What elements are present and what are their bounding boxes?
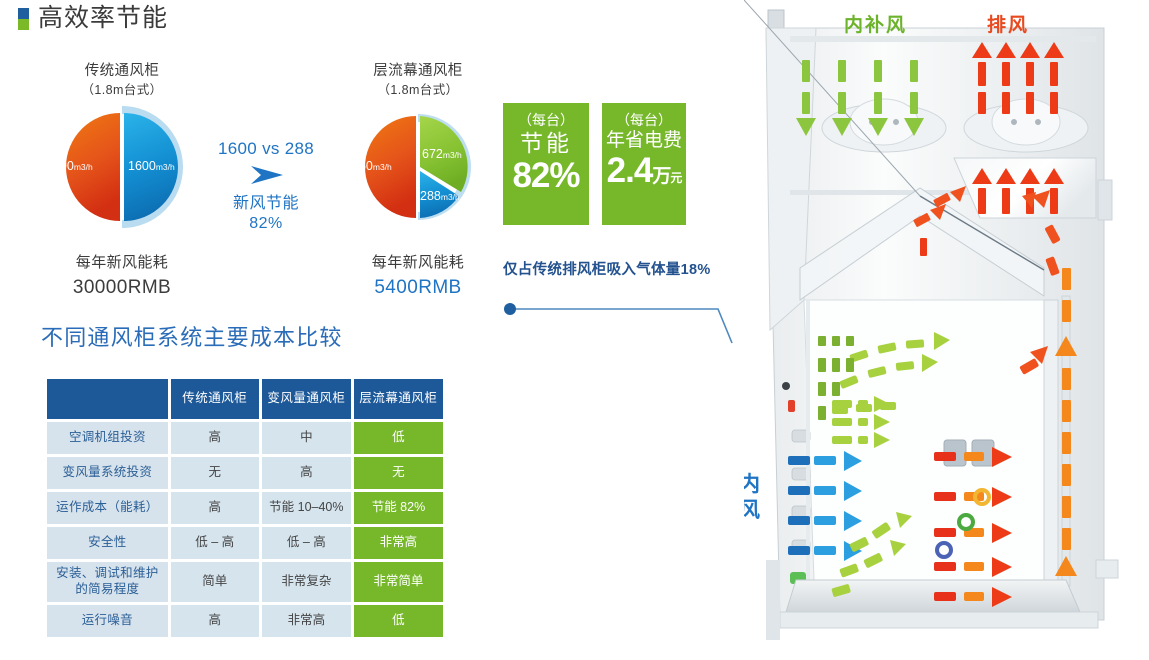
pie-foot-value: 30000RMB [34,274,210,302]
table-header-cell: 层流幕通风柜 [354,379,443,419]
table-row: 运作成本（能耗） 高 节能 10–40% 节能 82% [47,492,443,524]
pie-block-laminar: 层流幕通风柜 （1.8m台式） 960m3/h 6 [330,62,506,302]
pie-foot-value: 5400RMB [330,274,506,302]
label-room-fresh-air: 室内 新风 [744,472,762,523]
section-title: 不同通风柜系统主要成本比较 [41,320,343,352]
table-row: 安装、调试和维护的简易程度 简单 非常复杂 非常简单 [47,562,443,602]
table-cell: 高 [171,605,259,637]
table-cell-highlight: 无 [354,457,443,489]
pie-footer-traditional: 每年新风能耗 30000RMB [34,252,210,301]
infographic-page: 高效率节能 传统通风柜 （1.8m台式） [0,0,1149,660]
pie-chart-laminar: 960m3/h 672m3/h 288m3/h [330,104,506,230]
table-header-cell: 传统通风柜 [171,379,259,419]
table-cell-highlight: 非常高 [354,527,443,559]
pie-caption-traditional: 传统通风柜 （1.8m台式） [34,62,210,98]
pie-caption-laminar: 层流幕通风柜 （1.8m台式） [330,62,506,98]
pie-title-traditional: 传统通风柜 [34,62,210,82]
callout-leader-line [503,281,738,356]
fume-hood-illustration: 内补风 排风 室内 新风 [744,0,1149,660]
savings-badges: （每台） 节能 82% （每台） 年省电费 2.4万元 [503,103,686,225]
badge-yearly-cost-saving: （每台） 年省电费 2.4万元 [602,103,686,225]
table-cell: 非常复杂 [262,562,351,602]
pie-slice-label: 288m3/h [420,189,460,203]
table-header-row: 传统通风柜 变风量通风柜 层流幕通风柜 [47,379,443,419]
badge-value: 2.4万元 [602,153,686,188]
callout-text: 仅占传统排风柜吸入气体量18% [503,258,738,279]
table-header-cell [47,379,168,419]
table-cell: 节能 10–40% [262,492,351,524]
pie-footer-laminar: 每年新风能耗 5400RMB [330,252,506,301]
table-cell-highlight: 非常简单 [354,562,443,602]
pie-title-laminar: 层流幕通风柜 [330,62,506,82]
pie-chart-traditional: 1600m3/h 1600m3/h [34,104,210,230]
table-row-label: 空调机组投资 [47,422,168,454]
table-header-cell: 变风量通风柜 [262,379,351,419]
fume-hood-svg [744,0,1149,660]
badge-mid-label: 年省电费 [602,129,686,153]
table-row: 空调机组投资 高 中 低 [47,422,443,454]
cost-comparison-table: 传统通风柜 变风量通风柜 层流幕通风柜 空调机组投资 高 中 低 变风量系统投资… [44,376,446,640]
pie-slice-label: 1600m3/h [46,159,93,173]
pie-foot-label: 每年新风能耗 [34,252,210,274]
pie-block-traditional: 传统通风柜 （1.8m台式） [34,62,210,302]
badge-per-unit-label: （每台） [503,111,589,129]
table-cell: 非常高 [262,605,351,637]
table-cell-highlight: 节能 82% [354,492,443,524]
table-cell: 高 [262,457,351,489]
pie-slice-label: 672m3/h [422,147,462,161]
table-cell: 高 [171,492,259,524]
pie-slice-label: 960m3/h [352,159,392,173]
table-row: 安全性 低 – 高 低 – 高 非常高 [47,527,443,559]
left-panel: 传统通风柜 （1.8m台式） [0,0,760,660]
label-internal-supply-air: 内补风 [844,10,907,37]
pie-subtitle-laminar: （1.8m台式） [330,82,506,99]
table-cell: 简单 [171,562,259,602]
table-row-label: 安装、调试和维护的简易程度 [47,562,168,602]
right-arrow-icon [196,164,336,191]
table-row-label: 运作成本（能耗） [47,492,168,524]
badge-per-unit-label: （每台） [602,111,686,129]
badge-energy-saving: （每台） 节能 82% [503,103,589,225]
table-row: 变风量系统投资 无 高 无 [47,457,443,489]
table-cell: 低 – 高 [262,527,351,559]
pie-subtitle-traditional: （1.8m台式） [34,82,210,99]
table-cell-highlight: 低 [354,422,443,454]
table-row-label: 运行噪音 [47,605,168,637]
comparison-ratio-text: 1600 vs 288 [196,139,336,159]
table-row-label: 变风量系统投资 [47,457,168,489]
table-cell-highlight: 低 [354,605,443,637]
comparison-saving-text: 新风节能 82% [196,194,336,234]
label-exhaust-air: 排风 [987,10,1029,37]
pie-foot-label: 每年新风能耗 [330,252,506,274]
callout-annotation: 仅占传统排风柜吸入气体量18% [503,258,738,356]
table-cell: 中 [262,422,351,454]
pie-slice-label: 1600m3/h [128,159,175,173]
table-cell: 无 [171,457,259,489]
table-row: 运行噪音 高 非常高 低 [47,605,443,637]
comparison-arrow-block: 1600 vs 288 新风节能 82% [196,139,336,234]
table-cell: 高 [171,422,259,454]
badge-mid-label: 节能 [503,129,589,158]
badge-value: 82% [503,158,589,193]
table-cell: 低 – 高 [171,527,259,559]
table-row-label: 安全性 [47,527,168,559]
